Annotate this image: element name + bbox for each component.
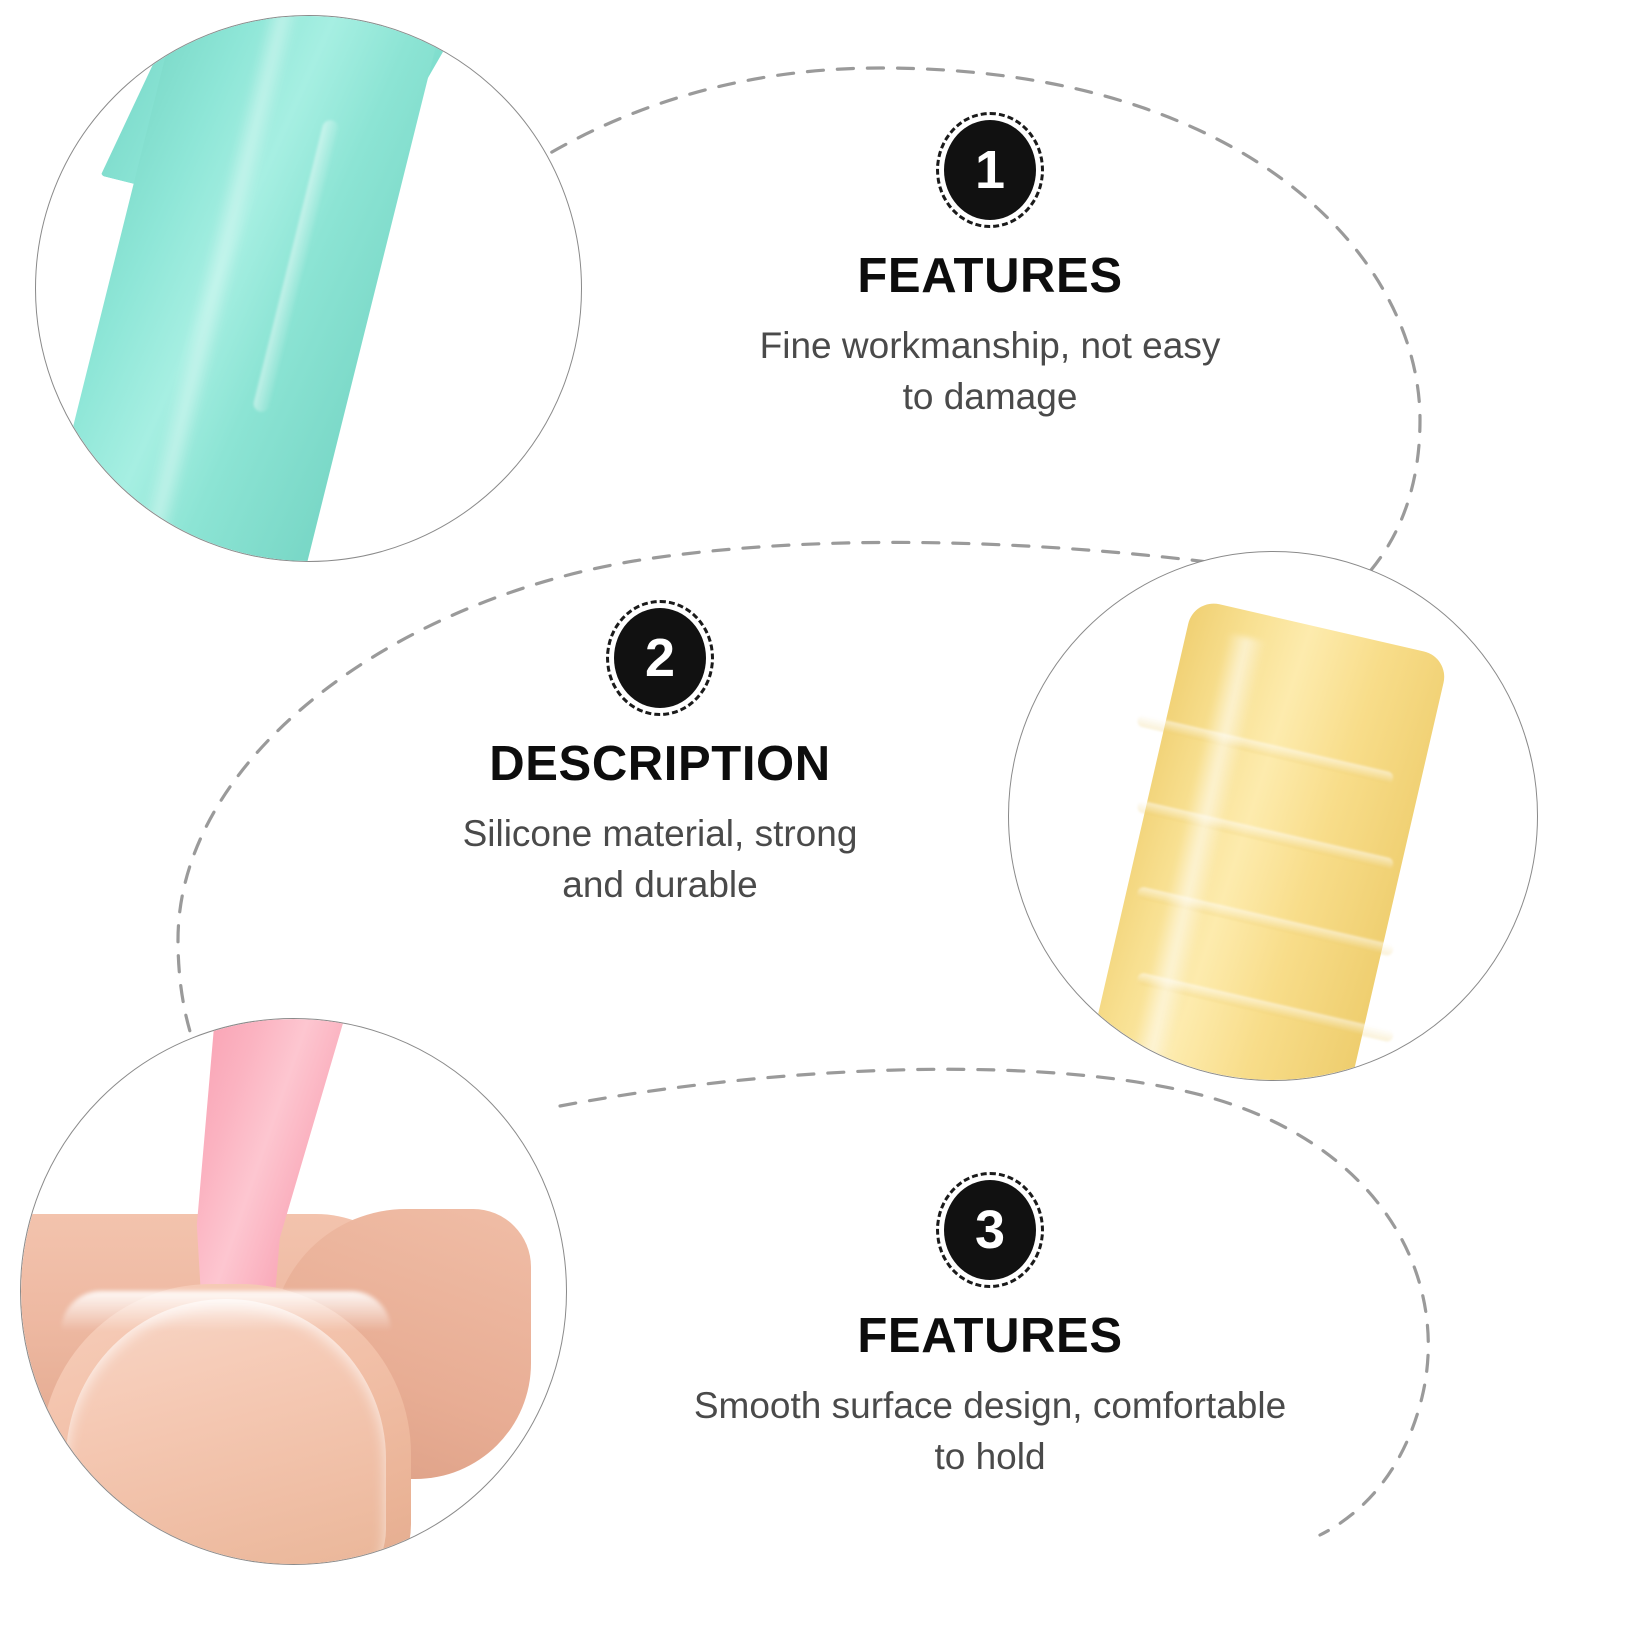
step-number-1: 1 <box>975 143 1005 197</box>
feature-block-1: 1 FEATURES Fine workmanship, not easy to… <box>660 120 1320 422</box>
feature-heading-1: FEATURES <box>660 248 1320 304</box>
product-photo-yellow-cylinder <box>1008 551 1538 1081</box>
feature-body-2: Silicone material, strong and durable <box>330 808 990 910</box>
feature-body-2-line2: and durable <box>562 864 757 905</box>
feature-body-1: Fine workmanship, not easy to damage <box>660 320 1320 422</box>
product-photo-teal-tip <box>35 15 582 562</box>
step-number-2: 2 <box>645 631 675 685</box>
feature-body-1-line2: to damage <box>903 376 1078 417</box>
feature-block-2: 2 DESCRIPTION Silicone material, strong … <box>330 608 990 910</box>
step-badge-2: 2 <box>614 608 706 708</box>
feature-heading-2: DESCRIPTION <box>330 736 990 792</box>
photo-teal-inner <box>36 16 581 561</box>
photo-pink-inner <box>21 1019 566 1564</box>
infographic-canvas: 1 FEATURES Fine workmanship, not easy to… <box>0 0 1629 1629</box>
photo-yellow-inner <box>1009 552 1537 1080</box>
feature-body-3-line1: Smooth surface design, comfortable <box>694 1385 1286 1426</box>
feature-block-3: 3 FEATURES Smooth surface design, comfor… <box>590 1180 1390 1482</box>
step-badge-1: 1 <box>944 120 1036 220</box>
product-photo-pink-in-fingers <box>20 1018 567 1565</box>
feature-body-3-line2: to hold <box>934 1436 1045 1477</box>
fingernail-edge-highlight <box>61 1291 391 1331</box>
feature-body-1-line1: Fine workmanship, not easy <box>760 325 1221 366</box>
step-number-3: 3 <box>975 1203 1005 1257</box>
feature-body-2-line1: Silicone material, strong <box>463 813 858 854</box>
feature-body-3: Smooth surface design, comfortable to ho… <box>590 1380 1390 1482</box>
step-badge-3: 3 <box>944 1180 1036 1280</box>
feature-heading-3: FEATURES <box>590 1308 1390 1364</box>
